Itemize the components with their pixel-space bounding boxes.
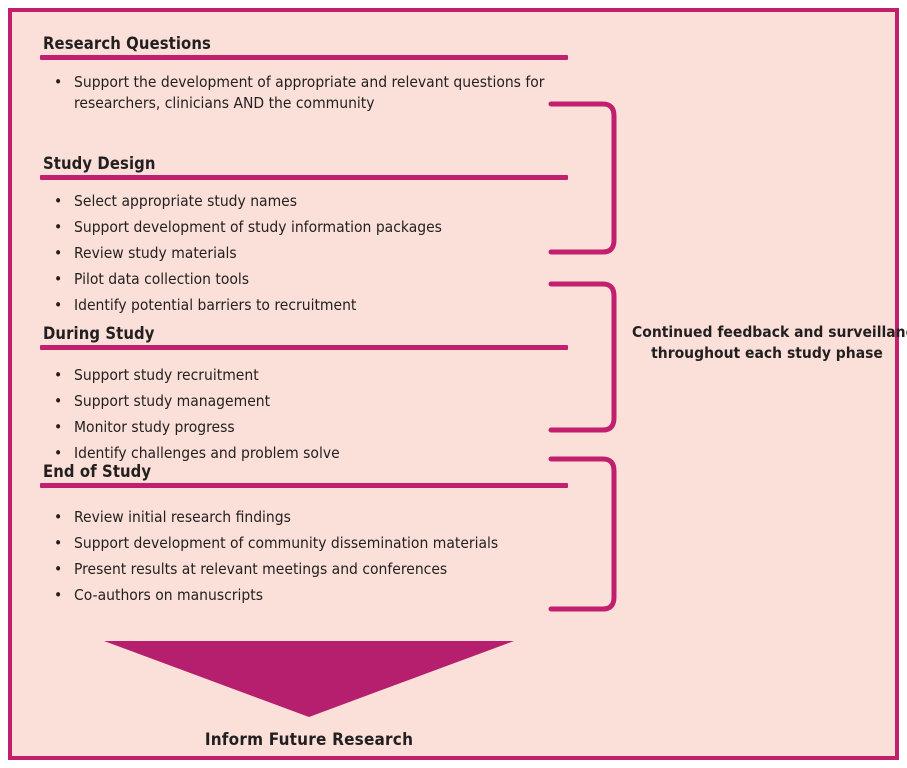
- bullet-icon: •: [54, 269, 62, 290]
- list-item-label: Select appropriate study names: [74, 192, 297, 210]
- list-item-label: Identify challenges and problem solve: [74, 444, 340, 462]
- section-heading-during-study: During Study: [43, 324, 580, 343]
- down-arrow-icon: [104, 641, 514, 717]
- list-item: • Identify potential barriers to recruit…: [40, 295, 580, 316]
- bullet-icon: •: [54, 559, 62, 580]
- list-item: • Co-authors on manuscripts: [40, 585, 580, 606]
- bullet-list-study-design: • Select appropriate study names • Suppo…: [40, 191, 580, 316]
- caption-line-1: Continued feedback and surveillance: [632, 322, 902, 343]
- bullet-list-during-study: • Support study recruitment • Support st…: [40, 365, 580, 464]
- list-item-label: Support study management: [74, 392, 270, 410]
- bullet-icon: •: [54, 417, 62, 438]
- section-rule-research-questions: [40, 55, 568, 60]
- list-item-label: Support development of study information…: [74, 218, 442, 236]
- bullet-icon: •: [54, 507, 62, 528]
- caption-line-2: throughout each study phase: [632, 343, 902, 364]
- bullet-icon: •: [54, 191, 62, 212]
- bullet-icon: •: [54, 391, 62, 412]
- list-item: • Review study materials: [40, 243, 580, 264]
- section-rule-end-of-study: [40, 483, 568, 488]
- list-item-label: Support study recruitment: [74, 366, 259, 384]
- bullet-icon: •: [54, 585, 62, 606]
- section-research-questions: Research Questions • Support the develop…: [40, 34, 580, 114]
- section-end-of-study: End of Study • Review initial research f…: [40, 462, 580, 606]
- diagram-frame: Research Questions • Support the develop…: [8, 8, 899, 760]
- section-rule-study-design: [40, 175, 568, 180]
- section-study-design: Study Design • Select appropriate study …: [40, 154, 580, 316]
- list-item: • Pilot data collection tools: [40, 269, 580, 290]
- list-item-label: Pilot data collection tools: [74, 270, 249, 288]
- bracket-2: [543, 268, 633, 438]
- bullet-icon: •: [54, 295, 62, 316]
- bullet-icon: •: [54, 72, 62, 93]
- inform-future-research-label: Inform Future Research: [104, 730, 514, 750]
- list-item-label: Identify potential barriers to recruitme…: [74, 296, 356, 314]
- continued-feedback-caption: Continued feedback and surveillance thro…: [632, 322, 902, 364]
- list-item: • Identify challenges and problem solve: [40, 443, 580, 464]
- section-heading-study-design: Study Design: [43, 154, 580, 173]
- list-item: • Present results at relevant meetings a…: [40, 559, 580, 580]
- list-item: • Support development of community disse…: [40, 533, 580, 554]
- bullet-icon: •: [54, 533, 62, 554]
- diagram-canvas: Research Questions • Support the develop…: [0, 0, 907, 768]
- section-heading-research-questions: Research Questions: [43, 34, 580, 53]
- list-item: • Support study recruitment: [40, 365, 580, 386]
- list-item-label: Support the development of appropriate a…: [74, 73, 545, 112]
- section-during-study: During Study • Support study recruitment…: [40, 324, 580, 464]
- bracket-1: [543, 88, 633, 258]
- section-heading-end-of-study: End of Study: [43, 462, 580, 481]
- bullet-icon: •: [54, 243, 62, 264]
- list-item: • Select appropriate study names: [40, 191, 580, 212]
- list-item-label: Co-authors on manuscripts: [74, 586, 263, 604]
- list-item: • Review initial research findings: [40, 507, 580, 528]
- bullet-icon: •: [54, 443, 62, 464]
- list-item-label: Review initial research findings: [74, 508, 291, 526]
- list-item-label: Present results at relevant meetings and…: [74, 560, 447, 578]
- list-item: • Monitor study progress: [40, 417, 580, 438]
- list-item-label: Support development of community dissemi…: [74, 534, 498, 552]
- list-item: • Support development of study informati…: [40, 217, 580, 238]
- bracket-3: [543, 443, 633, 619]
- section-rule-during-study: [40, 345, 568, 350]
- bullet-list-research-questions: • Support the development of appropriate…: [40, 72, 580, 114]
- bullet-icon: •: [54, 217, 62, 238]
- list-item-label: Monitor study progress: [74, 418, 235, 436]
- list-item: • Support study management: [40, 391, 580, 412]
- bullet-icon: •: [54, 365, 62, 386]
- bullet-list-end-of-study: • Review initial research findings • Sup…: [40, 507, 580, 606]
- list-item: • Support the development of appropriate…: [40, 72, 580, 114]
- list-item-label: Review study materials: [74, 244, 237, 262]
